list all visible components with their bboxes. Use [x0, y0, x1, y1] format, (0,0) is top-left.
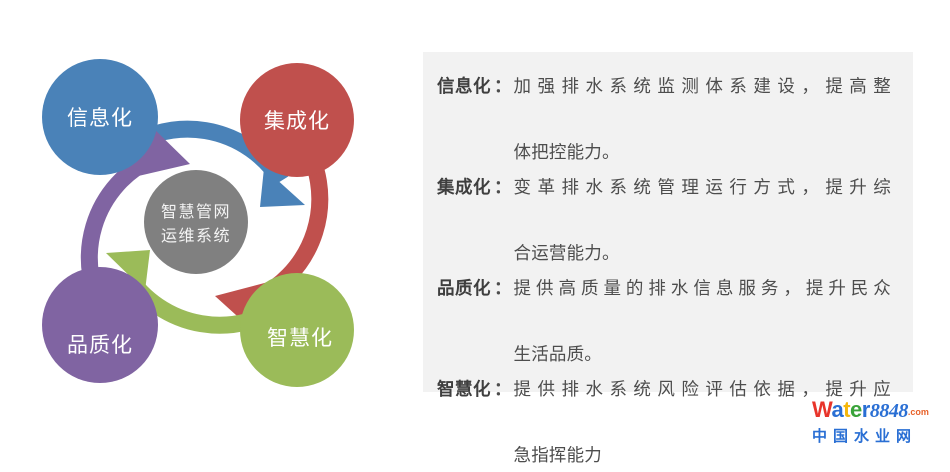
description-body-quality: 提供高质量的排水信息服务，提升民众生活品质。 — [514, 272, 892, 371]
description-colon-0: ： — [491, 70, 514, 103]
node-quality-circle[interactable] — [42, 267, 158, 383]
logo-letter-e: e — [850, 397, 862, 422]
node-intelligence[interactable]: 智慧化 — [240, 273, 354, 387]
node-quality-label: 品质化 — [67, 334, 133, 357]
description-line-plain: 生活品质。 — [514, 338, 892, 371]
description-body-information: 加强排水系统监测体系建设，提高整体把控能力。 — [514, 70, 892, 169]
node-integration-label: 集成化 — [264, 110, 330, 133]
description-panel: 信息化 ： 加强排水系统监测体系建设，提高整体把控能力。 集成化 ： 变革排水系… — [423, 52, 913, 392]
logo-wordmark: Water8848.com — [812, 398, 942, 424]
cycle-diagram-svg: 信息化 集成化 品质化 智慧化 智慧管网 运维系统 — [0, 0, 410, 449]
logo-number: 8848 — [870, 400, 908, 422]
logo-letter-r: r — [862, 397, 870, 422]
description-term-integration: 集成化 — [437, 171, 491, 204]
logo-tld: .com — [908, 407, 929, 417]
site-watermark-logo[interactable]: Water8848.com 中国水业网 — [812, 398, 942, 446]
center-hub-line2: 运维系统 — [161, 227, 231, 245]
description-item-integration: 集成化 ： 变革排水系统管理运行方式，提升综合运营能力。 — [437, 171, 891, 270]
logo-letter-t: t — [843, 397, 850, 422]
description-term-quality: 品质化 — [437, 272, 491, 305]
node-information-label: 信息化 — [67, 107, 133, 130]
logo-letter-a: a — [831, 397, 843, 422]
description-term-information: 信息化 — [437, 70, 491, 103]
logo-chinese-name: 中国水业网 — [812, 426, 942, 447]
page-root: 信息化 集成化 品质化 智慧化 智慧管网 运维系统 — [0, 0, 950, 449]
description-line-justified: 变革排水系统管理运行方式，提升综 — [514, 171, 892, 237]
description-colon-1: ： — [491, 171, 514, 204]
description-line-justified: 提供高质量的排水信息服务，提升民众 — [514, 272, 892, 338]
description-colon-3: ： — [491, 373, 514, 406]
cycle-diagram: 信息化 集成化 品质化 智慧化 智慧管网 运维系统 — [0, 0, 410, 449]
node-integration[interactable]: 集成化 — [240, 63, 354, 177]
description-term-intelligence: 智慧化 — [437, 373, 491, 406]
node-quality[interactable]: 品质化 — [42, 267, 158, 383]
description-line-plain: 合运营能力。 — [514, 237, 892, 270]
center-hub-line1: 智慧管网 — [161, 203, 231, 221]
description-colon-2: ： — [491, 272, 514, 305]
description-line-justified: 加强排水系统监测体系建设，提高整 — [514, 70, 892, 136]
diagram-center-hub[interactable]: 智慧管网 运维系统 — [144, 170, 248, 274]
description-body-integration: 变革排水系统管理运行方式，提升综合运营能力。 — [514, 171, 892, 270]
logo-letter-w: W — [812, 397, 831, 422]
node-information[interactable]: 信息化 — [42, 59, 158, 175]
description-item-quality: 品质化 ： 提供高质量的排水信息服务，提升民众生活品质。 — [437, 272, 891, 371]
description-item-information: 信息化 ： 加强排水系统监测体系建设，提高整体把控能力。 — [437, 70, 891, 169]
center-hub-circle[interactable] — [144, 170, 248, 274]
node-intelligence-label: 智慧化 — [267, 327, 333, 350]
description-line-plain: 体把控能力。 — [514, 136, 892, 169]
